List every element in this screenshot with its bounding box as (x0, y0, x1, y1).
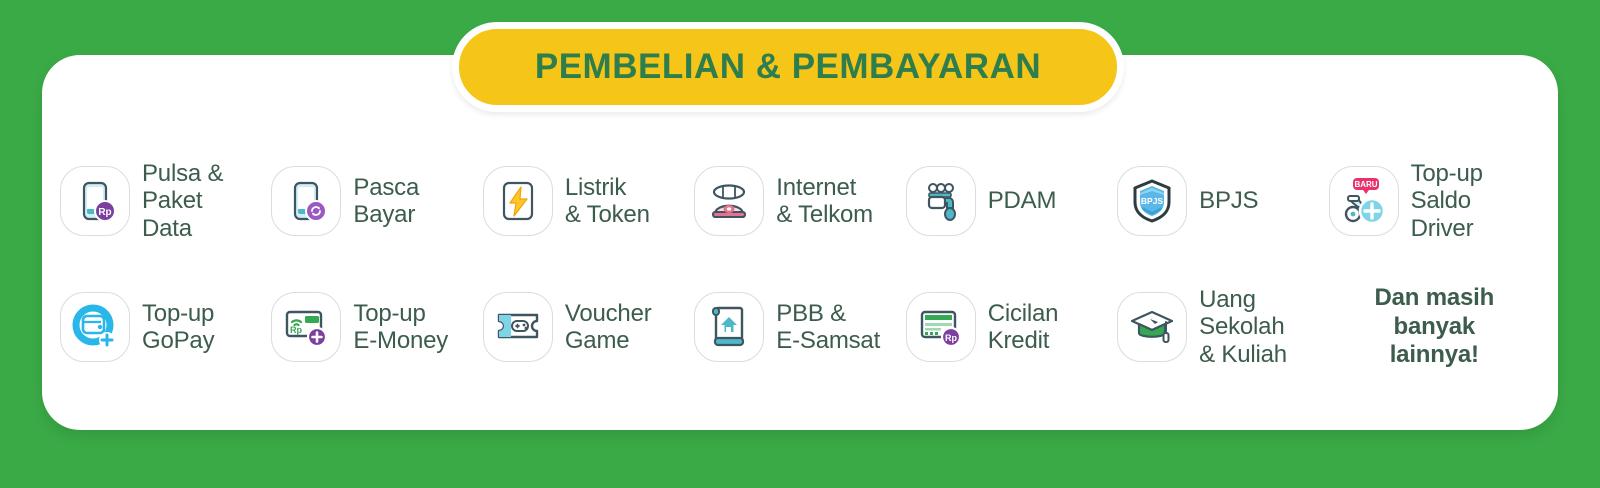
service-label: Top-up Saldo Driver (1411, 160, 1483, 242)
service-item-listrik-token[interactable]: Listrik & Token (483, 145, 694, 257)
emoney-card-icon: Rp (282, 305, 330, 349)
promo-banner-stage: PEMBELIAN & PEMBAYARAN Rp Pulsa & Paket … (0, 0, 1600, 488)
service-tile: BPJS (1117, 166, 1187, 236)
service-label: Top-up GoPay (142, 300, 214, 355)
service-tile (60, 292, 130, 362)
service-item-pdam[interactable]: PDAM (906, 145, 1117, 257)
phone-refresh-icon (283, 178, 329, 224)
graduation-cap-icon (1128, 306, 1176, 348)
service-tile: Rp (906, 292, 976, 362)
service-label: Listrik & Token (565, 174, 650, 229)
service-item-pasca-bayar[interactable]: Pasca Bayar (271, 145, 482, 257)
service-label: PBB & E-Samsat (776, 300, 880, 355)
service-tile: Rp (60, 166, 130, 236)
service-label: BPJS (1199, 187, 1258, 214)
service-item-topup-gopay[interactable]: Top-up GoPay (60, 271, 271, 383)
service-label: PDAM (988, 187, 1057, 214)
bpjs-shield-icon: BPJS (1130, 178, 1174, 224)
service-label: Pasca Bayar (353, 174, 419, 229)
water-faucet-icon (918, 178, 964, 224)
service-item-uang-sekolah-kuliah[interactable]: Uang Sekolah & Kuliah (1117, 271, 1328, 383)
svg-text:BARU: BARU (1354, 180, 1377, 189)
service-item-internet-telkom[interactable]: Internet & Telkom (694, 145, 905, 257)
service-label: Top-up E-Money (353, 300, 448, 355)
section-title-banner: PEMBELIAN & PEMBAYARAN (452, 22, 1124, 112)
service-item-topup-emoney[interactable]: Rp Top-up E-Money (271, 271, 482, 383)
page-title: PEMBELIAN & PEMBAYARAN (535, 47, 1041, 87)
house-document-icon (707, 304, 751, 350)
service-item-bpjs[interactable]: BPJS BPJS (1117, 145, 1328, 257)
service-item-cicilan-kredit[interactable]: Rp Cicilan Kredit (906, 271, 1117, 383)
service-tile (483, 166, 553, 236)
telephone-icon (705, 178, 753, 224)
service-tile (271, 166, 341, 236)
more-services-label: Dan masih banyak lainnya! (1374, 284, 1494, 370)
service-tile: Rp (271, 292, 341, 362)
service-tile (906, 166, 976, 236)
services-grid: Rp Pulsa & Paket Data (60, 145, 1540, 383)
service-item-voucher-game[interactable]: Voucher Game (483, 271, 694, 383)
service-tile (1117, 292, 1187, 362)
service-label: Uang Sekolah & Kuliah (1199, 286, 1287, 368)
service-tile (694, 166, 764, 236)
scooter-driver-icon: BARU (1339, 177, 1389, 225)
service-tile: BARU (1329, 166, 1399, 236)
credit-card-icon: Rp (917, 305, 965, 349)
svg-text:Rp: Rp (290, 325, 302, 335)
phone-rupiah-icon: Rp (72, 178, 118, 224)
service-label: Cicilan Kredit (988, 300, 1059, 355)
service-tile (483, 292, 553, 362)
service-item-pulsa-paket-data[interactable]: Rp Pulsa & Paket Data (60, 145, 271, 257)
game-ticket-icon (494, 306, 542, 348)
svg-text:Rp: Rp (945, 333, 957, 343)
service-label: Pulsa & Paket Data (142, 160, 223, 242)
service-label: Internet & Telkom (776, 174, 873, 229)
service-item-topup-saldo-driver[interactable]: BARU Top-up Saldo Driver (1329, 145, 1540, 257)
service-item-pbb-esamsat[interactable]: PBB & E-Samsat (694, 271, 905, 383)
lightning-bolt-icon (495, 178, 541, 224)
gopay-wallet-icon (71, 303, 119, 351)
service-label: Voucher Game (565, 300, 652, 355)
svg-text:BPJS: BPJS (1141, 196, 1164, 206)
service-item-more: Dan masih banyak lainnya! (1329, 271, 1540, 383)
service-tile (694, 292, 764, 362)
svg-text:Rp: Rp (98, 207, 111, 218)
